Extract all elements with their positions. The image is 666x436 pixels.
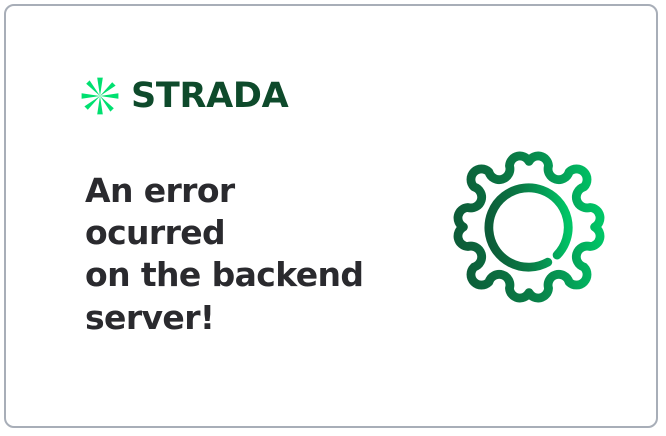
error-message-line-3: server!: [85, 297, 375, 339]
brand-logo: STRADA: [80, 76, 288, 116]
error-card: STRADA An error ocurred on the backend s…: [4, 4, 658, 428]
brand-wordmark: STRADA: [131, 79, 288, 114]
error-message-line-1: An error ocurred: [85, 170, 375, 254]
gear-icon: [449, 147, 609, 307]
strada-asterisk-icon: [80, 76, 120, 116]
error-message-line-2: on the backend: [85, 254, 375, 296]
error-message: An error ocurred on the backend server!: [85, 170, 375, 339]
